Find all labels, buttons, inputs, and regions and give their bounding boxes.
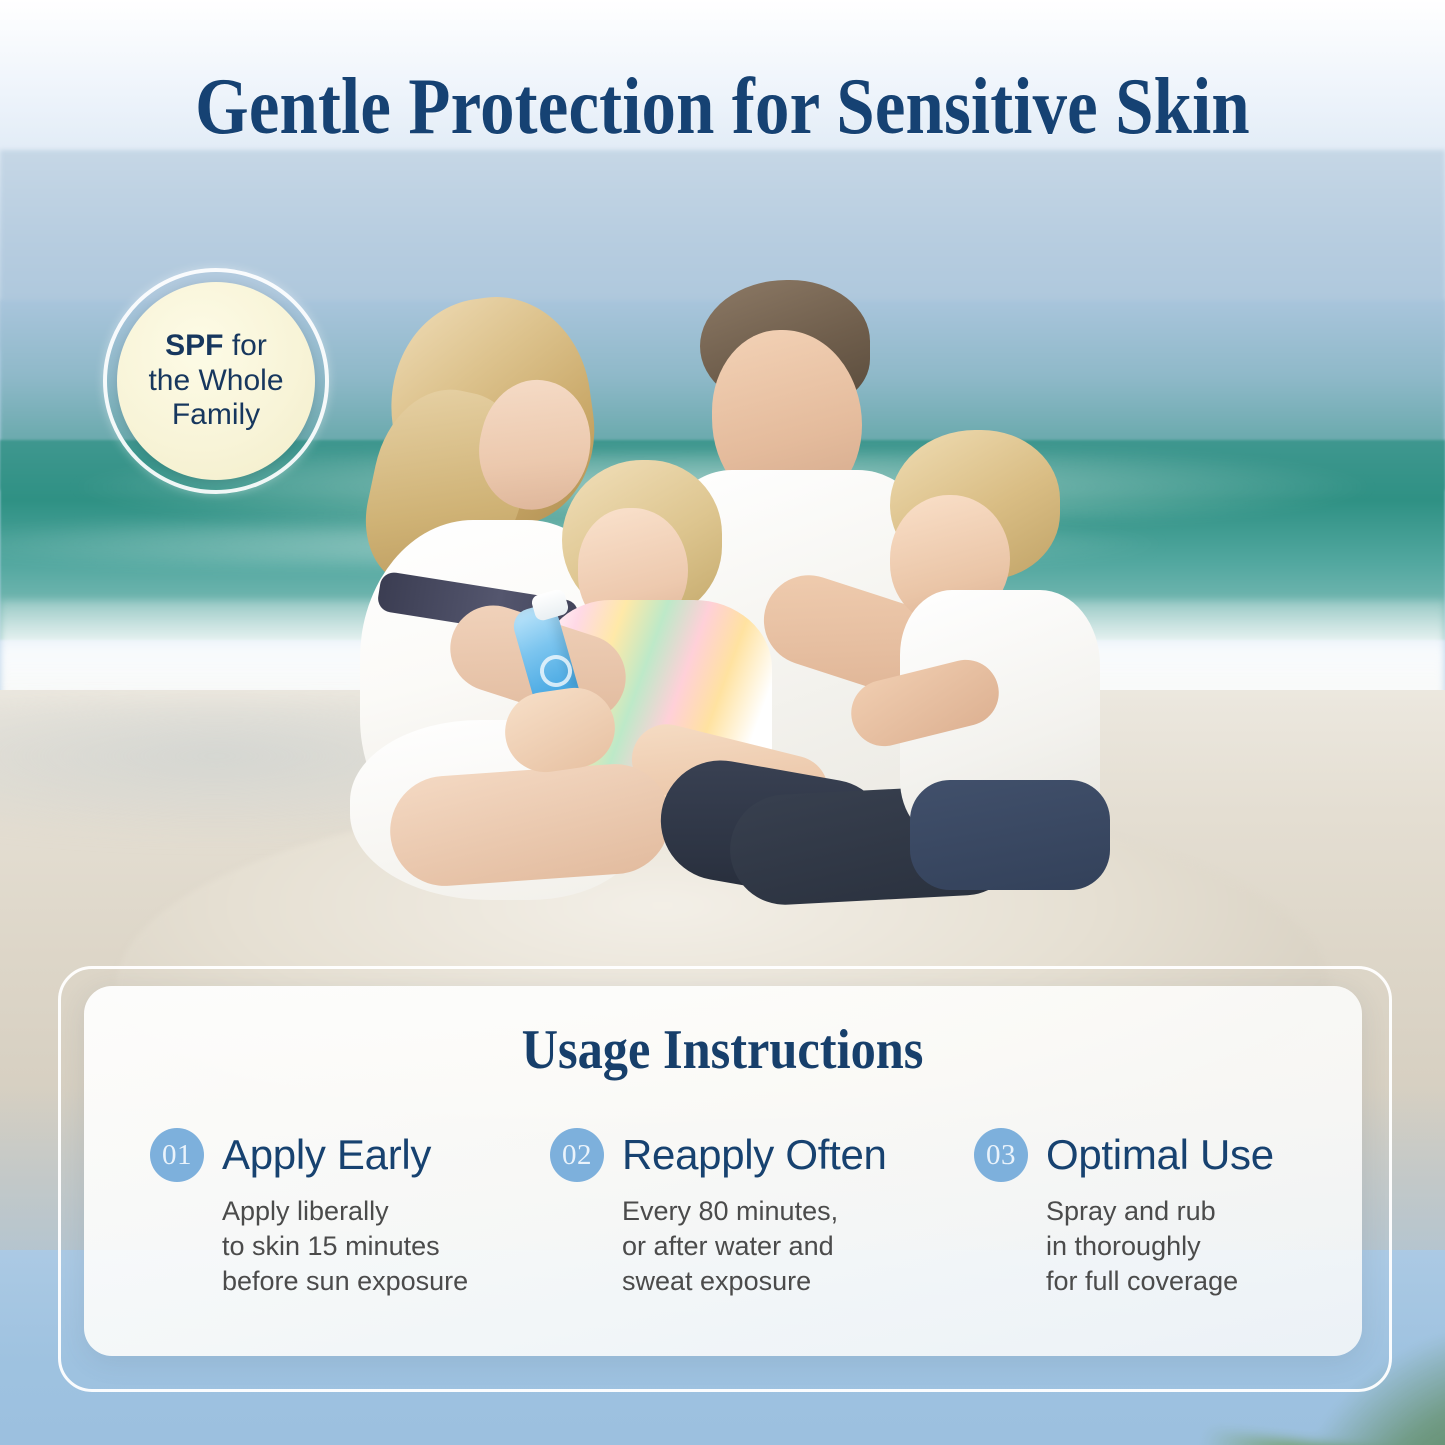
step-2-number-badge: 02: [550, 1128, 604, 1182]
badge-text: SPF for the Whole Family: [148, 329, 283, 433]
badge-disc: SPF for the Whole Family: [117, 282, 315, 480]
mother-leg: [387, 760, 674, 889]
step-1-title: Apply Early: [222, 1131, 431, 1179]
step-3-number-badge: 03: [974, 1128, 1028, 1182]
step-2-title: Reapply Often: [622, 1131, 887, 1179]
instruction-step-1: 01 Apply Early Apply liberally to skin 1…: [150, 1128, 550, 1299]
page-title: Gentle Protection for Sensitive Skin: [101, 62, 1344, 153]
step-3-title: Optimal Use: [1046, 1131, 1274, 1179]
step-1-number-badge: 01: [150, 1128, 204, 1182]
step-2-header: 02 Reapply Often: [550, 1128, 950, 1182]
instruction-step-2: 02 Reapply Often Every 80 minutes, or af…: [550, 1128, 950, 1299]
step-2-body: Every 80 minutes, or after water and swe…: [622, 1194, 950, 1299]
instructions-title: Usage Instructions: [72, 1018, 1373, 1082]
step-1-header: 01 Apply Early: [150, 1128, 550, 1182]
spf-family-badge: SPF for the Whole Family: [103, 268, 329, 494]
step-3-body: Spray and rub in thoroughly for full cov…: [1046, 1194, 1364, 1299]
badge-for-label: for: [223, 329, 266, 362]
instruction-step-3: 03 Optimal Use Spray and rub in thorough…: [974, 1128, 1364, 1299]
step-1-body: Apply liberally to skin 15 minutes befor…: [222, 1194, 550, 1299]
badge-spf-label: SPF: [165, 329, 223, 362]
instruction-steps: 01 Apply Early Apply liberally to skin 1…: [84, 1128, 1362, 1328]
badge-line-3: Family: [172, 398, 260, 431]
son-jeans: [910, 780, 1110, 890]
family-group: [330, 270, 1120, 890]
step-3-header: 03 Optimal Use: [974, 1128, 1364, 1182]
badge-line-2: the Whole: [148, 364, 283, 397]
poster-root: Gentle Protection for Sensitive Skin SPF…: [0, 0, 1445, 1445]
